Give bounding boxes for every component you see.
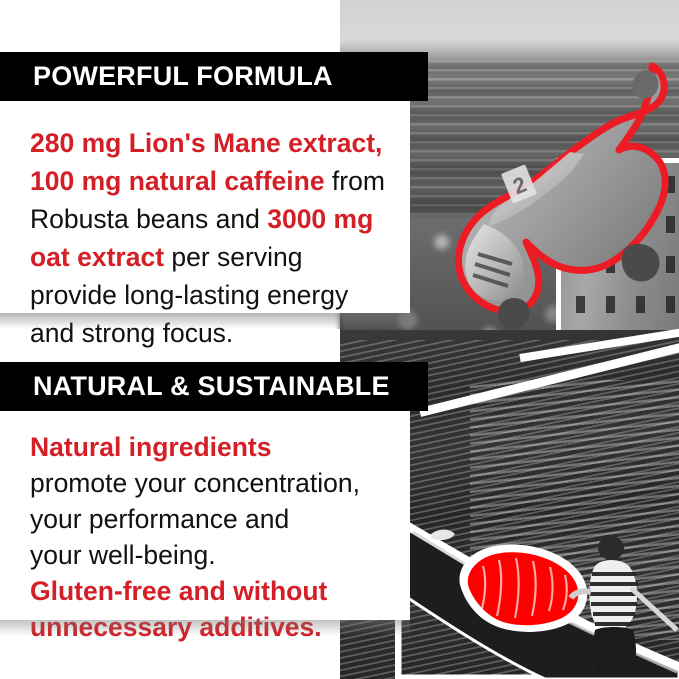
body-line: your performance and — [30, 501, 400, 537]
body-text: from — [325, 166, 385, 196]
top-white-filler — [0, 0, 340, 52]
highlighted-text: Natural ingredients — [30, 432, 272, 462]
long-jumper-athlete: 2 — [420, 48, 679, 388]
section-heading: POWERFUL FORMULA — [33, 63, 333, 90]
body-text: promote your concentration, — [30, 468, 360, 498]
body-text: your performance and — [30, 504, 289, 534]
section-heading: NATURAL & SUSTAINABLE — [33, 373, 390, 400]
highlighted-text: 280 mg Lion's Mane extract, — [30, 128, 382, 158]
body-line: your well-being. — [30, 537, 400, 573]
body-text: provide long-lasting energy — [30, 280, 348, 310]
body-line: 280 mg Lion's Mane extract, — [30, 124, 390, 162]
gondola-scene — [395, 480, 679, 679]
highlighted-text: 3000 mg — [267, 204, 373, 234]
section-body-text: Natural ingredientspromote your concentr… — [30, 429, 400, 645]
body-text: your well-being. — [30, 540, 216, 570]
infographic-canvas: 2 — [0, 0, 679, 679]
highlighted-text: oat extract — [30, 242, 164, 272]
body-text: per serving — [164, 242, 302, 272]
section-card-natural-sustainable: Natural ingredientspromote your concentr… — [0, 411, 410, 620]
body-line: 100 mg natural caffeine from — [30, 162, 390, 200]
section-header-bar-powerful-formula: POWERFUL FORMULA — [0, 52, 428, 101]
section-card-powerful-formula: 280 mg Lion's Mane extract,100 mg natura… — [0, 101, 410, 313]
body-line: provide long-lasting energy — [30, 276, 390, 314]
body-line: promote your concentration, — [30, 465, 400, 501]
highlighted-text: 100 mg natural caffeine — [30, 166, 325, 196]
body-text: Robusta beans and — [30, 204, 267, 234]
card-shadow-lower — [0, 620, 410, 636]
body-line: Robusta beans and 3000 mg — [30, 200, 390, 238]
body-line: Gluten-free and without — [30, 573, 400, 609]
section-header-bar-natural-sustainable: NATURAL & SUSTAINABLE — [0, 362, 428, 411]
card-shadow-upper — [0, 313, 410, 329]
body-line: oat extract per serving — [30, 238, 390, 276]
highlighted-text: Gluten-free and without — [30, 576, 327, 606]
body-line: Natural ingredients — [30, 429, 400, 465]
